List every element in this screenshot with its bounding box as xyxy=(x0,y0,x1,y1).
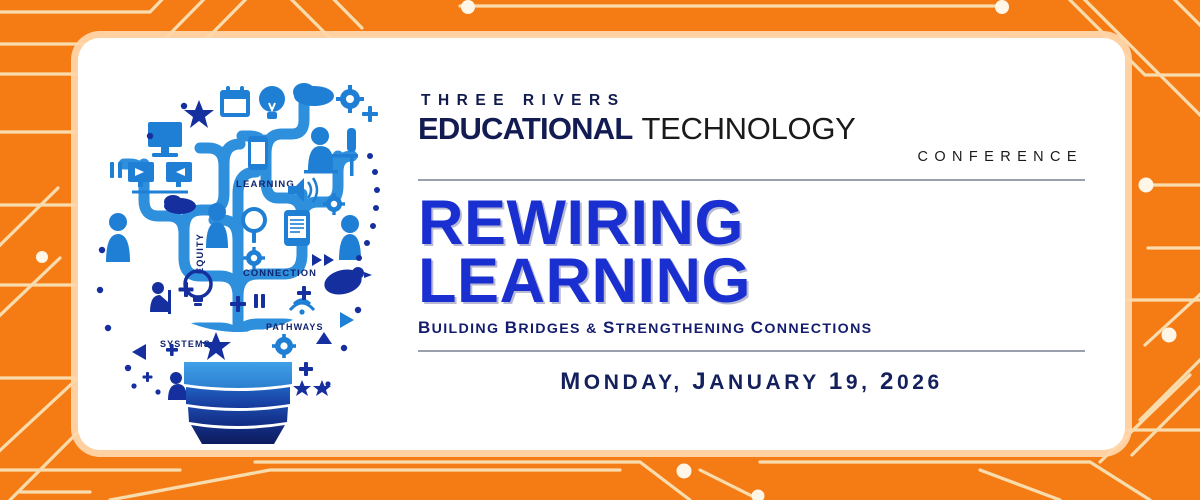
divider-bottom xyxy=(418,350,1085,352)
lightbulb-icon xyxy=(259,86,285,119)
gear-icon xyxy=(272,334,296,358)
arrow-icon xyxy=(340,312,354,328)
wifi-icon xyxy=(290,300,314,315)
pause-icon xyxy=(254,294,265,308)
arrow-icon xyxy=(316,332,332,344)
org-subline-conference: CONFERENCE xyxy=(418,149,1083,165)
headline-tagline: BUILDING BRIDGES & STRENGTHENING CONNECT… xyxy=(418,318,1085,338)
star-icon xyxy=(293,380,331,396)
smartphone-icon xyxy=(248,136,268,170)
org-name: EDUCATIONAL TECHNOLOGY xyxy=(418,111,1085,147)
cloud-icon xyxy=(164,195,196,214)
pause-icon xyxy=(110,162,122,178)
arrow-icon xyxy=(132,344,146,360)
org-name-educational: EDUCATIONAL xyxy=(418,111,633,147)
calendar-icon xyxy=(220,86,250,117)
divider-top xyxy=(418,179,1085,181)
org-name-technology: TECHNOLOGY xyxy=(642,111,856,147)
cloud-icon xyxy=(293,83,334,106)
keyword-equity: EQUITY xyxy=(195,233,205,274)
event-date: MONDAY, JANUARY 19, 2026 xyxy=(418,368,1085,396)
person-icon xyxy=(339,215,361,260)
org-kicker: THREE RIVERS xyxy=(421,92,1085,110)
gear-icon xyxy=(243,247,265,269)
organization-lockup: THREE RIVERS EDUCATIONAL TECHNOLOGY CONF… xyxy=(418,92,1085,165)
headline-line-1: REWIRING xyxy=(418,195,1085,253)
plus-icon xyxy=(362,106,378,122)
headline-line-2: LEARNING xyxy=(418,253,1085,311)
person-at-desk-icon xyxy=(304,127,358,176)
magnifier-icon xyxy=(243,209,265,243)
person-icon xyxy=(150,282,171,314)
bulb-base xyxy=(184,362,292,444)
headline-block: REWIRING LEARNING BUILDING BRIDGES & STR… xyxy=(418,195,1085,339)
gear-icon xyxy=(336,85,364,113)
poster-card: LEARNING EQUITY CONNECTION SYSTEMS PATHW… xyxy=(78,38,1125,450)
monitor-icon xyxy=(148,122,182,157)
tablet-icon xyxy=(284,210,310,246)
bird-icon xyxy=(322,266,372,298)
keyword-systems: SYSTEMS xyxy=(160,339,211,349)
keyword-pathways: PATHWAYS xyxy=(266,322,324,332)
play-icon xyxy=(312,254,334,266)
conference-text-block: THREE RIVERS EDUCATIONAL TECHNOLOGY CONF… xyxy=(388,38,1125,450)
lightbulb-illustration: LEARNING EQUITY CONNECTION SYSTEMS PATHW… xyxy=(88,44,388,444)
person-icon xyxy=(106,213,130,262)
keyword-learning: LEARNING xyxy=(236,179,295,190)
star-icon xyxy=(184,100,214,128)
presentation-icon xyxy=(128,162,154,187)
